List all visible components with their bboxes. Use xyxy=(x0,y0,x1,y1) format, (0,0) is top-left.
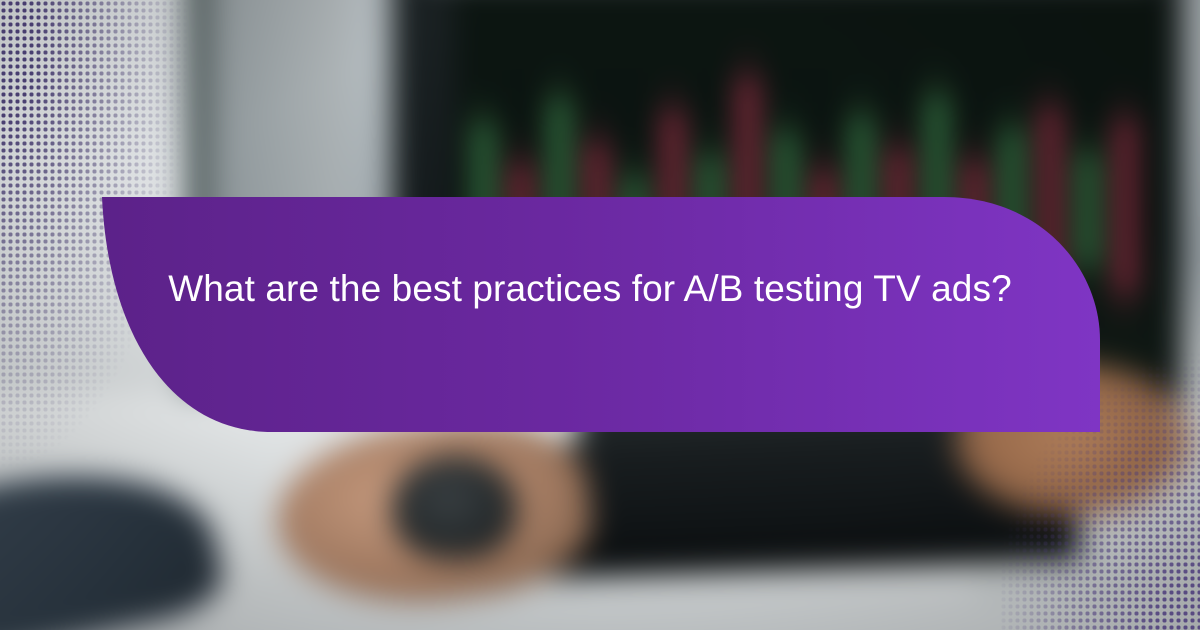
share-card: What are the best practices for A/B test… xyxy=(0,0,1200,630)
headline-banner: What are the best practices for A/B test… xyxy=(0,0,1200,630)
page-title: What are the best practices for A/B test… xyxy=(165,262,1015,316)
